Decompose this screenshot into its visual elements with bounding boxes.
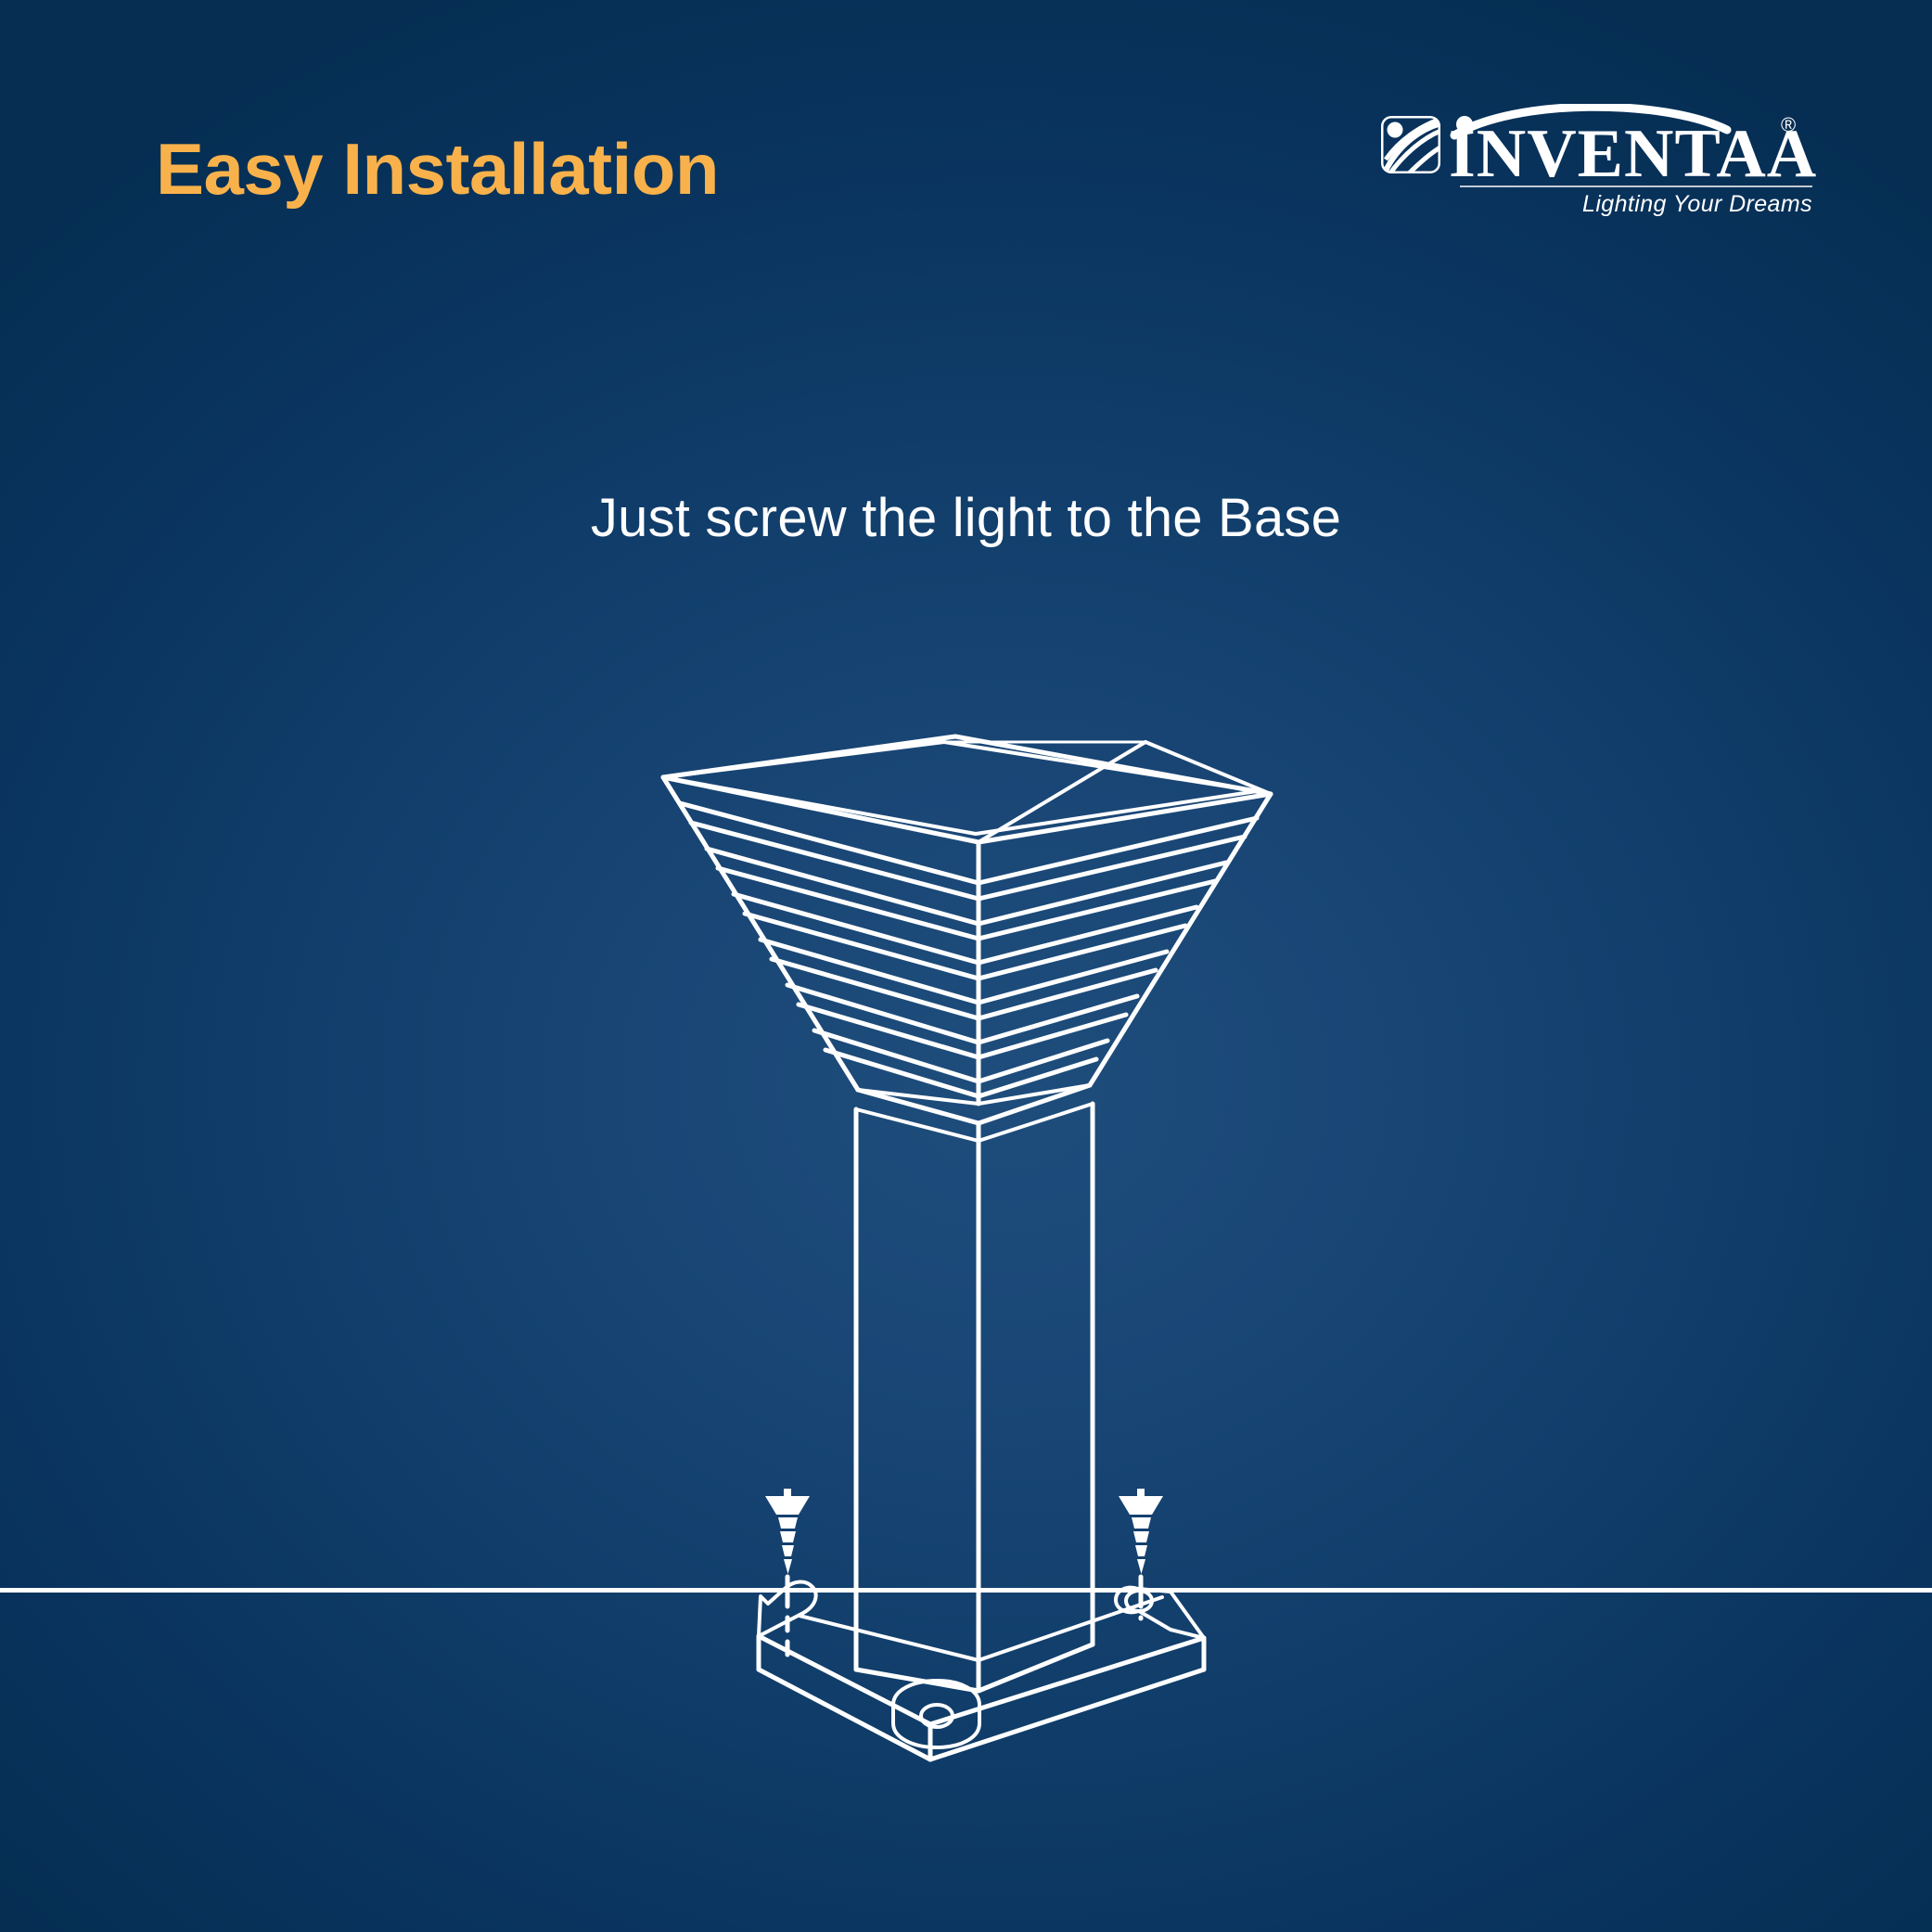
poster-canvas: Easy Installation	[0, 0, 1932, 1932]
ground-horizon-line	[0, 1588, 1932, 1593]
mounting-screw-right	[1119, 1489, 1163, 1574]
lamp-top-cap	[663, 736, 1271, 842]
mounting-base-plate	[759, 1581, 1204, 1759]
bollard-light-assembly-diagram	[0, 0, 1932, 1932]
lamp-head-louvers	[663, 777, 1271, 1123]
square-column-pole	[856, 1104, 1093, 1691]
mounting-screw-left	[765, 1489, 810, 1574]
